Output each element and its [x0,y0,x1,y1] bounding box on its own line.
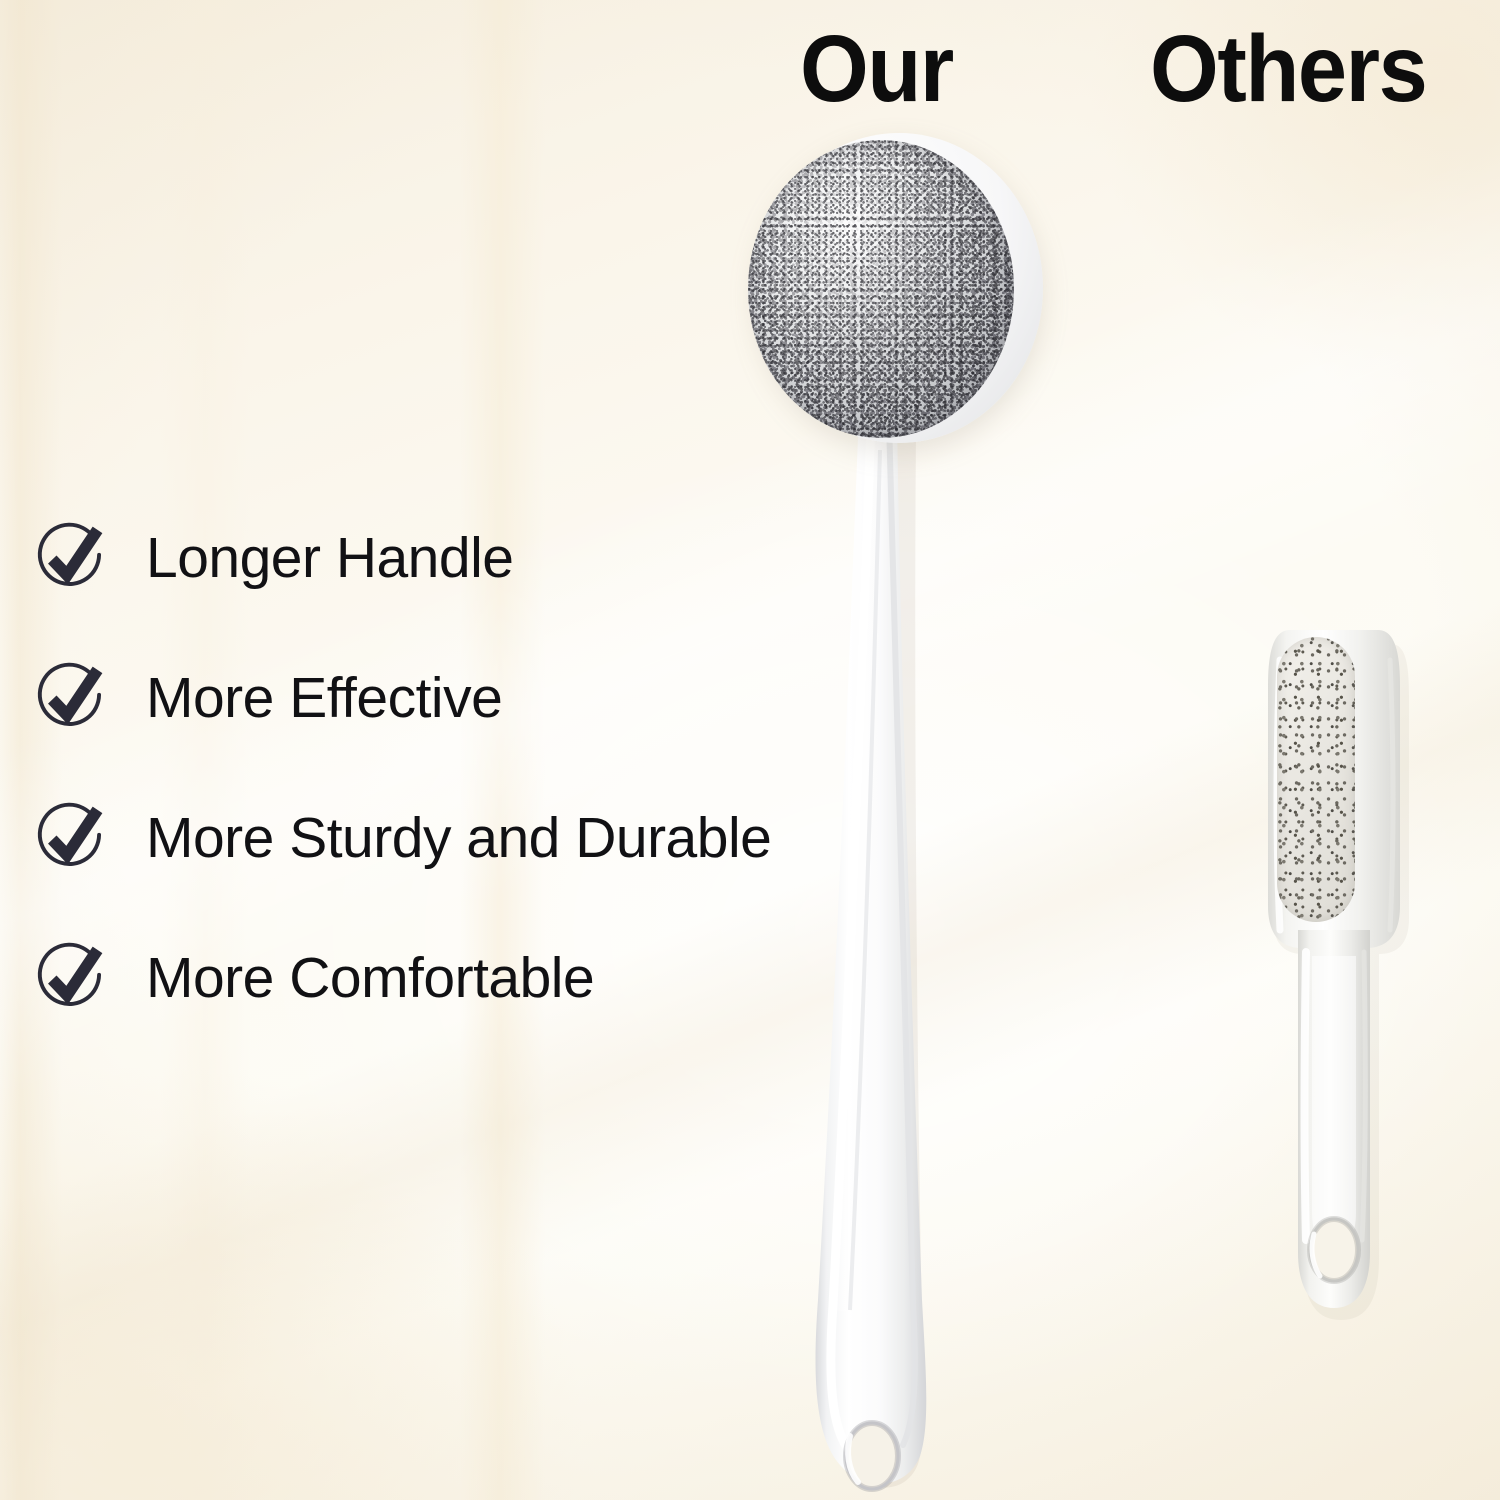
our-pumice-disc [748,140,1014,438]
heading-our: Our [800,22,953,117]
product-comparison-image: Our Others Longer Handle More Effective [0,0,1500,1500]
product-ours [700,120,1100,1500]
feature-list: Longer Handle More Effective More Sturdy… [28,488,788,1048]
feature-label: More Sturdy and Durable [146,810,771,867]
check-circle-icon [32,939,110,1017]
check-circle-icon [32,799,110,877]
feature-label: More Effective [146,670,502,727]
feature-item-more-effective: More Effective [28,628,788,768]
feature-item-longer-handle: Longer Handle [28,488,788,628]
feature-item-more-comfortable: More Comfortable [28,908,788,1048]
feature-label: More Comfortable [146,950,594,1007]
heading-others: Others [1150,22,1426,117]
feature-item-more-sturdy-and-durable: More Sturdy and Durable [28,768,788,908]
check-circle-icon [32,519,110,597]
feature-label: Longer Handle [146,530,513,587]
check-circle-icon [32,659,110,737]
others-pumice-pad [1277,637,1355,922]
